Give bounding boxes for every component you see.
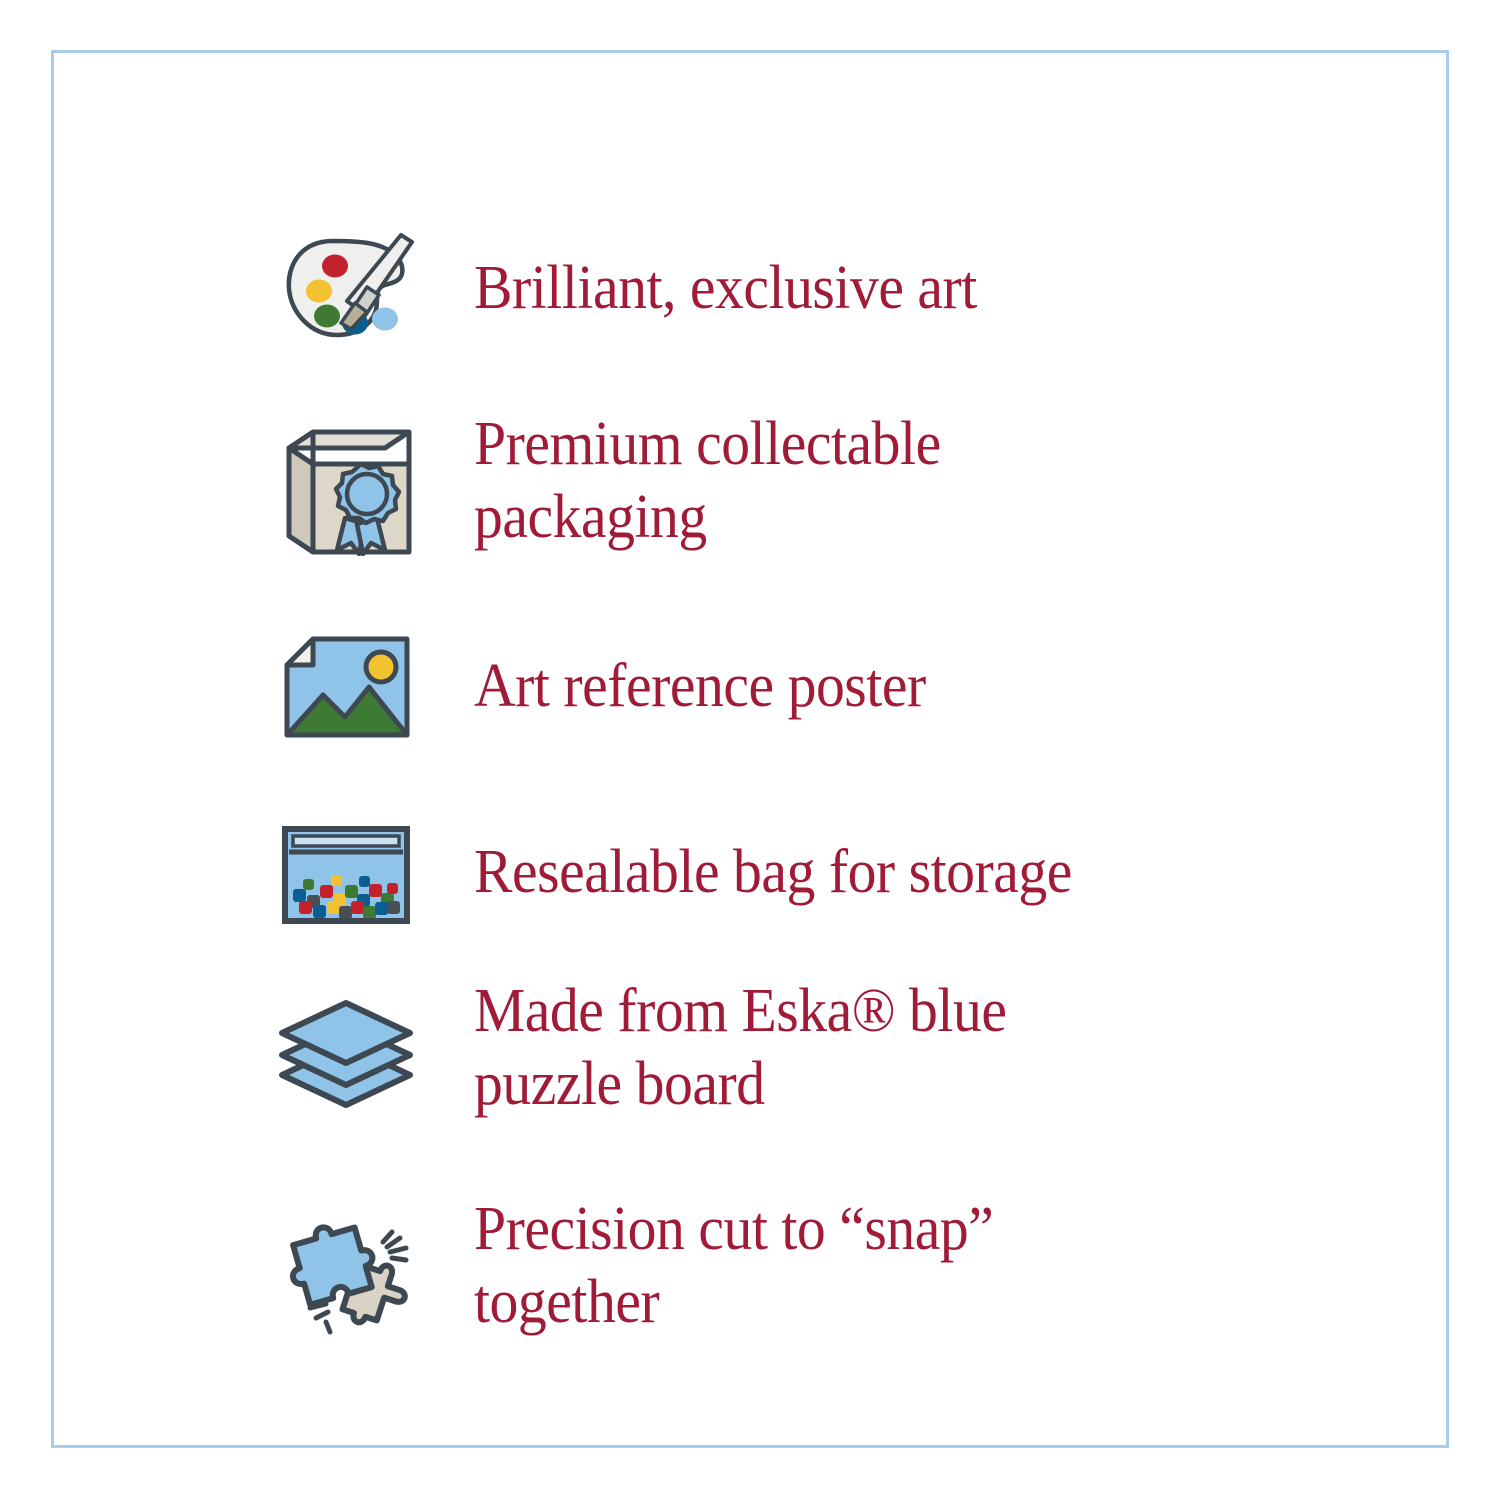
paint-palette-icon <box>266 213 426 363</box>
feature-label: Premium collectable packaging <box>474 408 941 553</box>
feature-item-precision-cut-to-snap-together: Precision cut to “snap” together <box>266 1158 1032 1373</box>
feature-list: Brilliant, exclusive art <box>54 53 1446 1445</box>
poster-image-icon <box>266 611 426 761</box>
feature-label: Precision cut to “snap” together <box>474 1193 993 1338</box>
layered-board-icon <box>266 973 426 1123</box>
feature-label: Brilliant, exclusive art <box>474 252 977 325</box>
feature-label: Made from Eska® blue puzzle board <box>474 975 1006 1120</box>
feature-item-premium-collectable-packaging: Premium collectable packaging <box>266 381 976 581</box>
feature-item-resealable-bag-for-storage: Resealable bag for storage <box>266 777 1117 967</box>
feature-label: Art reference poster <box>474 650 926 723</box>
content-frame: Brilliant, exclusive art <box>51 50 1449 1448</box>
feature-item-made-from-eska-blue-puzzle-board: Made from Eska® blue puzzle board <box>266 943 1047 1153</box>
resealable-bag-icon <box>266 797 426 947</box>
feature-label: Resealable bag for storage <box>474 836 1072 909</box>
puzzle-pieces-snap-icon <box>266 1186 426 1346</box>
feature-item-brilliant-exclusive-art: Brilliant, exclusive art <box>266 193 1015 383</box>
award-box-icon <box>266 406 426 556</box>
feature-item-art-reference-poster: Art reference poster <box>266 591 960 781</box>
